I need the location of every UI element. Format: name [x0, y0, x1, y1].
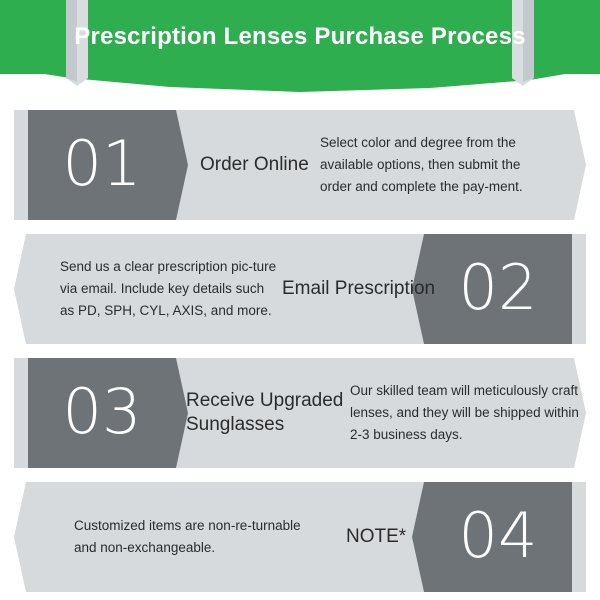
step-title-3: Receive Upgraded Sunglasses	[186, 358, 356, 468]
step-title-2: Email Prescription	[282, 234, 462, 344]
page-title: Prescription Lenses Purchase Process	[0, 0, 600, 74]
step-title-1: Order Online	[200, 110, 320, 220]
step-description-4: Customized items are non-re-turnable and…	[74, 482, 314, 592]
step-description-3: Our skilled team will meticulously craft…	[350, 358, 588, 468]
step-number-3: 03	[28, 358, 176, 468]
step-number-1: 01	[28, 110, 176, 220]
infographic-page: Prescription Lenses Purchase Process 01 …	[0, 0, 600, 600]
header: Prescription Lenses Purchase Process	[0, 0, 600, 92]
step-description-2: Send us a clear prescription pic-ture vi…	[60, 234, 282, 344]
step-number-chip-1: 01	[28, 110, 188, 220]
step-row-2: 02 Email Prescription Send us a clear pr…	[14, 234, 586, 344]
step-row-3: 03 Receive Upgraded Sunglasses Our skill…	[14, 358, 586, 468]
step-description-1: Select color and degree from the availab…	[320, 110, 550, 220]
step-row-1: 01 Order Online Select color and degree …	[14, 110, 586, 220]
step-number-chip-3: 03	[28, 358, 188, 468]
step-row-4: 04 NOTE* Customized items are non-re-tur…	[14, 482, 586, 592]
step-title-4: NOTE*	[346, 482, 466, 592]
